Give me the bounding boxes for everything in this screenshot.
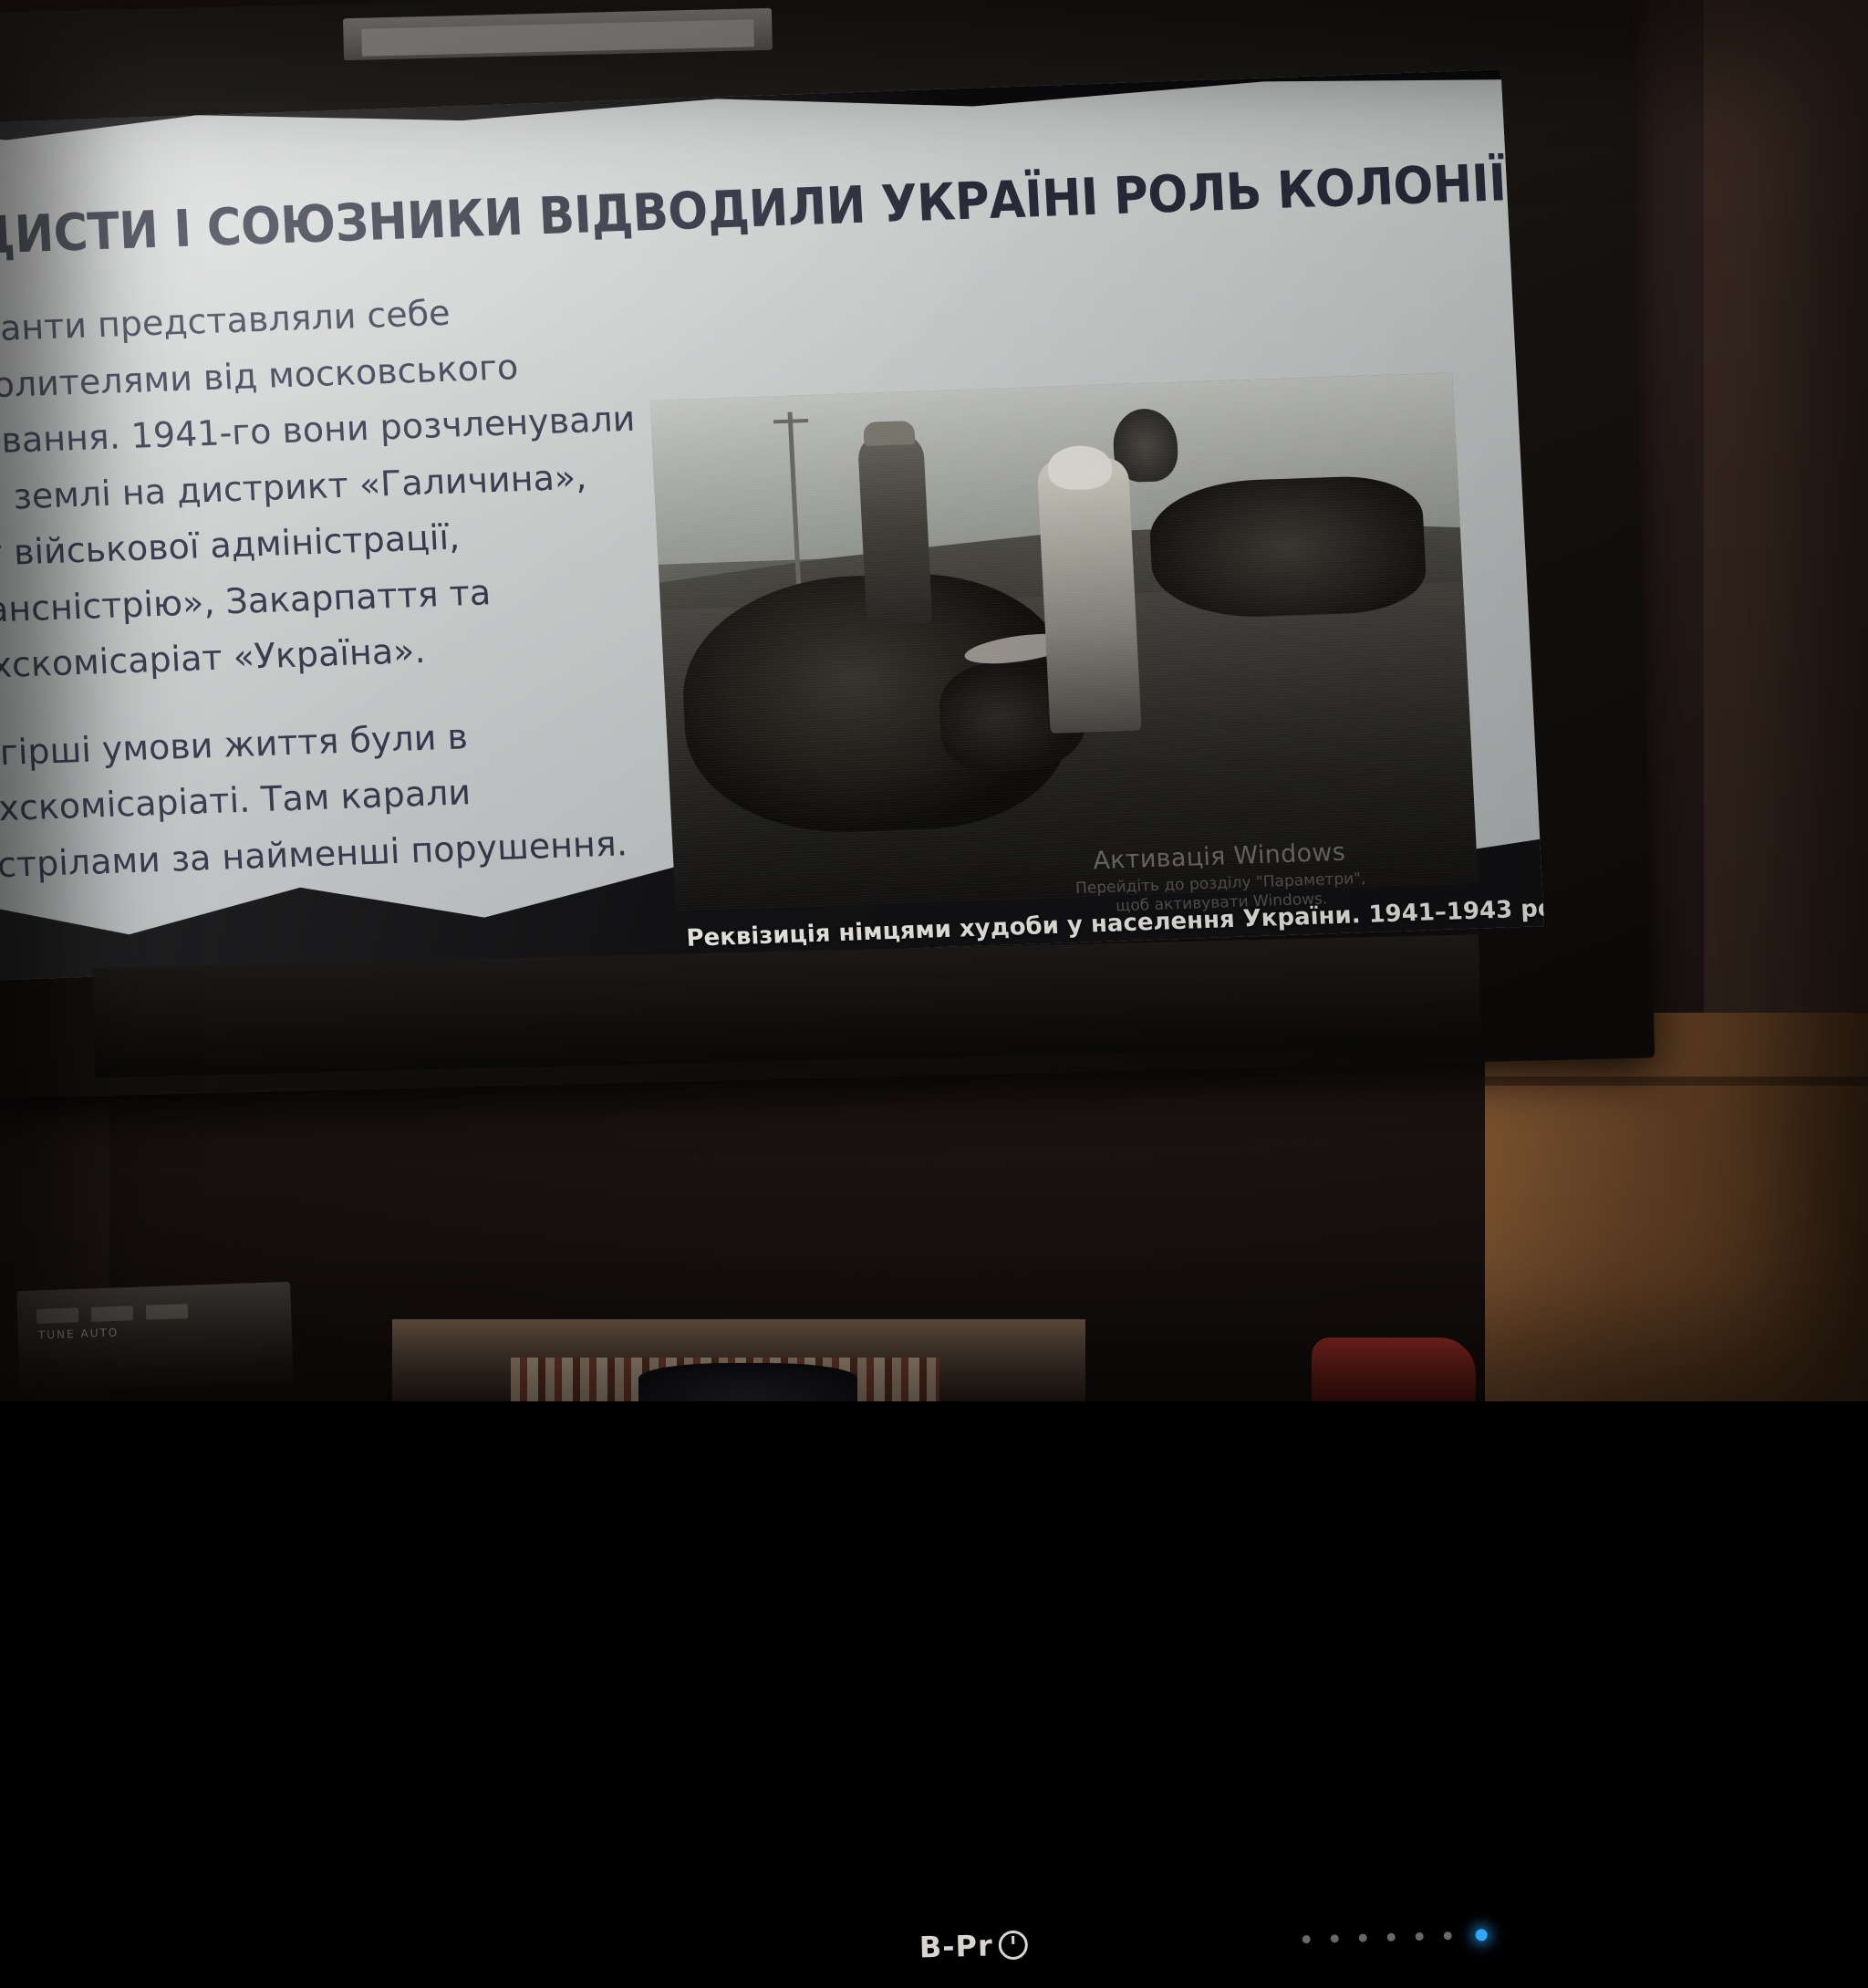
power-led-indicator [1476, 1929, 1488, 1941]
osd-button-6[interactable] [1444, 1931, 1452, 1940]
red-object [1312, 1337, 1476, 1401]
slide-title: НАЦИСТИ І СОЮЗНИКИ ВІДВОДИЛИ УКРАЇНІ РОЛ… [0, 165, 1173, 269]
slide-body: Окупанти представляли себе визволителями… [0, 279, 668, 928]
monitor-screen[interactable]: НАЦИСТИ І СОЮЗНИКИ ВІДВОДИЛИ УКРАЇНІ РОЛ… [0, 69, 1544, 982]
monitor-osd-buttons[interactable] [1302, 1931, 1452, 1943]
historical-photo [650, 372, 1479, 911]
osd-button-5[interactable] [1416, 1932, 1424, 1941]
slide-paragraph-2: Найгірші умови життя були в райхскомісар… [0, 703, 667, 896]
side-key-3[interactable] [146, 1304, 189, 1320]
osd-button-4[interactable] [1387, 1933, 1396, 1941]
desk-clutter [638, 1363, 857, 1401]
monitor-brand-logo: B-Pr [918, 1928, 1028, 1965]
room-scene: НАЦИСТИ І СОЮЗНИКИ ВІДВОДИЛИ УКРАЇНІ РОЛ… [0, 0, 1868, 1401]
power-ring-icon [998, 1931, 1028, 1961]
osd-button-1[interactable] [1302, 1935, 1311, 1943]
monitor: НАЦИСТИ І СОЮЗНИКИ ВІДВОДИЛИ УКРАЇНІ РОЛ… [0, 0, 1655, 1098]
slide-paragraph-1: Окупанти представляли себе визволителями… [0, 279, 657, 697]
photo-film-grain [650, 372, 1479, 911]
wooden-furniture [1485, 1013, 1868, 1401]
monitor-brand-text: B-Pr [918, 1928, 993, 1964]
side-key-2[interactable] [91, 1306, 134, 1322]
osd-button-3[interactable] [1359, 1933, 1367, 1941]
osd-button-2[interactable] [1331, 1934, 1339, 1942]
side-key-1[interactable] [36, 1307, 79, 1324]
